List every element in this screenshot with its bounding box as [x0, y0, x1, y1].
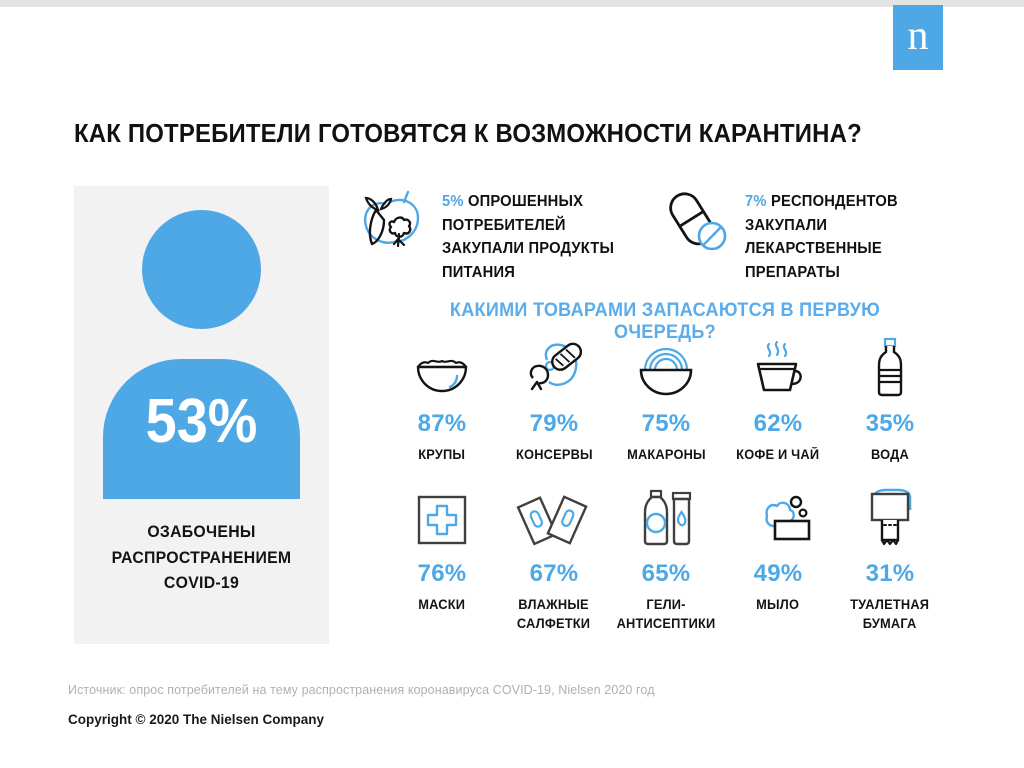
product-label: МЫЛО: [757, 595, 800, 614]
product-label: КРУПЫ: [419, 445, 466, 464]
page-title: КАК ПОТРЕБИТЕЛИ ГОТОВЯТСЯ К ВОЗМОЖНОСТИ …: [74, 118, 862, 149]
nielsen-logo-letter: n: [893, 5, 943, 70]
nielsen-logo: n: [893, 5, 943, 70]
stat-food-purchases: 5% ОПРОШЕННЫХ ПОТРЕБИТЕЛЕЙ ЗАКУПАЛИ ПРОД…: [356, 190, 646, 284]
stat-medicine-description: РЕСПОНДЕНТОВ ЗАКУПАЛИ ЛЕКАРСТВЕННЫЕ ПРЕП…: [745, 193, 898, 281]
section-title: КАКИМИ ТОВАРАМИ ЗАПАСАЮТСЯ В ПЕРВУЮ ОЧЕР…: [413, 300, 917, 344]
person-body-icon: 53%: [103, 359, 300, 499]
product-cell-wet-wipes: 67% ВЛАЖНЫЕ САЛФЕТКИ: [498, 490, 610, 633]
vegetables-icon: [356, 190, 428, 252]
product-cell-water: 35% ВОДА: [834, 340, 946, 464]
product-percent: 79%: [530, 412, 579, 436]
product-percent: 65%: [642, 562, 691, 586]
product-cell-soap: 49% МЫЛО: [722, 490, 834, 633]
stat-medicine-percent: 7%: [745, 193, 767, 210]
product-percent: 76%: [418, 562, 467, 586]
sanitizer-gel-icon: [637, 490, 695, 546]
top-accent-bar: [0, 0, 1024, 7]
stat-food-percent: 5%: [442, 193, 464, 210]
stat-food-text: 5% ОПРОШЕННЫХ ПОТРЕБИТЕЛЕЙ ЗАКУПАЛИ ПРОД…: [442, 190, 636, 284]
wet-wipes-icon: [519, 490, 589, 546]
water-bottle-icon: [873, 340, 907, 396]
product-cell-canned: 79% КОНСЕРВЫ: [498, 340, 610, 464]
stat-food-description: ОПРОШЕННЫХ ПОТРЕБИТЕЛЕЙ ЗАКУПАЛИ ПРОДУКТ…: [442, 193, 614, 281]
product-grid-row-1: 87% КРУПЫ 79%: [386, 340, 946, 464]
product-grid-row-2: 76% МАСКИ 67%: [386, 490, 946, 633]
product-cell-grains: 87% КРУПЫ: [386, 340, 498, 464]
medical-mask-icon: [416, 490, 468, 546]
product-percent: 75%: [642, 412, 691, 436]
product-label: ВОДА: [871, 445, 909, 464]
pasta-bowl-icon: [636, 340, 696, 396]
pills-icon: [665, 190, 731, 252]
stat-medicine-text: 7% РЕСПОНДЕНТОВ ЗАКУПАЛИ ЛЕКАРСТВЕННЫЕ П…: [745, 190, 945, 284]
product-cell-sanitizer: 65% ГЕЛИ- АНТИСЕПТИКИ: [610, 490, 722, 633]
product-label: МАСКИ: [419, 595, 466, 614]
product-label: КОФЕ И ЧАЙ: [736, 445, 819, 464]
person-head-icon: [142, 210, 261, 329]
coffee-cup-icon: [750, 340, 806, 396]
infographic-page: n КАК ПОТРЕБИТЕЛИ ГОТОВЯТСЯ К ВОЗМОЖНОСТ…: [0, 0, 1024, 768]
product-cell-masks: 76% МАСКИ: [386, 490, 498, 633]
product-label: МАКАРОНЫ: [627, 445, 706, 464]
stat-medicine-purchases: 7% РЕСПОНДЕНТОВ ЗАКУПАЛИ ЛЕКАРСТВЕННЫЕ П…: [665, 190, 955, 284]
product-percent: 62%: [754, 412, 803, 436]
product-label: ТУАЛЕТНАЯ БУМАГА: [850, 595, 929, 633]
toilet-paper-icon: [864, 490, 916, 546]
source-note: Источник: опрос потребителей на тему рас…: [68, 683, 655, 697]
product-cell-toilet-paper: 31% ТУАЛЕТНАЯ БУМАГА: [834, 490, 946, 633]
rice-bowl-icon: [413, 340, 471, 396]
product-label: КОНСЕРВЫ: [516, 445, 593, 464]
copyright-note: Copyright © 2020 The Nielsen Company: [68, 712, 324, 727]
concern-percent: 53%: [113, 391, 290, 453]
concern-panel: 53% ОЗАБОЧЕНЫ РАСПРОСТРАНЕНИЕМ COVID-19: [74, 186, 329, 644]
product-label: ВЛАЖНЫЕ САЛФЕТКИ: [517, 595, 590, 633]
product-cell-coffee-tea: 62% КОФЕ И ЧАЙ: [722, 340, 834, 464]
product-percent: 87%: [418, 412, 467, 436]
product-percent: 67%: [530, 562, 579, 586]
canned-food-icon: [523, 340, 585, 396]
product-label: ГЕЛИ- АНТИСЕПТИКИ: [617, 595, 716, 633]
product-percent: 31%: [866, 562, 915, 586]
product-cell-pasta: 75% МАКАРОНЫ: [610, 340, 722, 464]
product-percent: 49%: [754, 562, 803, 586]
product-percent: 35%: [866, 412, 915, 436]
soap-bar-icon: [745, 490, 811, 546]
concern-caption: ОЗАБОЧЕНЫ РАСПРОСТРАНЕНИЕМ COVID-19: [83, 519, 320, 596]
